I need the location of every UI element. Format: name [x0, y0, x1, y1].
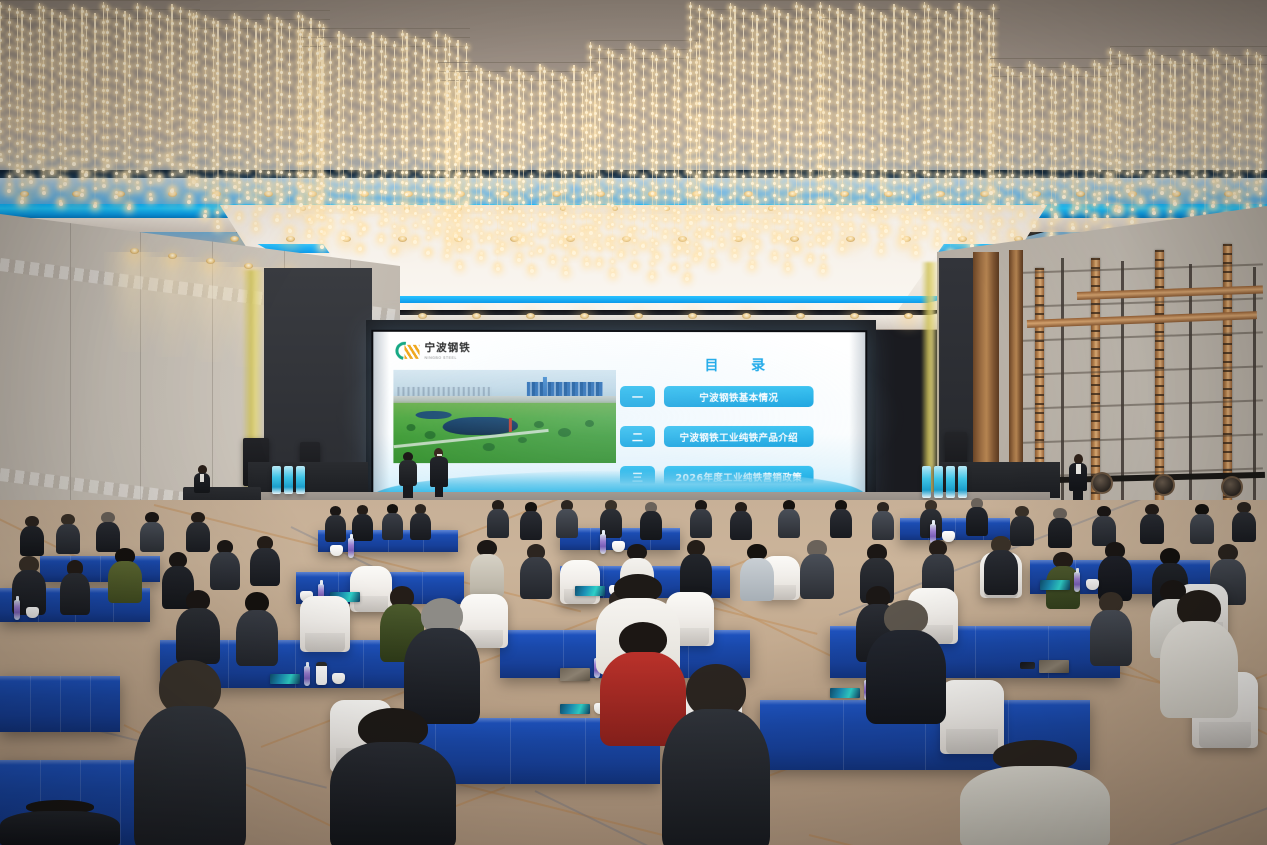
audience-member-beige-sweater	[470, 540, 504, 594]
wall-medallion	[1153, 474, 1175, 496]
audience-member-foreground-light	[960, 740, 1110, 845]
name-card	[1040, 580, 1070, 590]
audience-member	[96, 512, 120, 550]
name-card	[560, 704, 590, 714]
audience-member-foreground	[866, 600, 946, 718]
thermos-tumbler	[316, 662, 327, 685]
audience-member	[236, 592, 278, 662]
toc-label-2: 宁波钢铁工业纯铁产品介绍	[664, 426, 814, 447]
audience-member-white-puffer-fg	[1160, 590, 1238, 712]
water-bottle	[1074, 572, 1080, 592]
toc-label-1: 宁波钢铁基本情况	[664, 386, 814, 407]
audience-member	[800, 540, 834, 596]
audience-member	[520, 502, 542, 538]
teacup	[332, 673, 345, 684]
audience-member	[1090, 592, 1132, 662]
audience-member	[382, 504, 403, 538]
audience-member	[680, 540, 712, 594]
notebook	[560, 668, 590, 681]
logo-name-en: NINGBO STEEL	[425, 355, 471, 359]
audience-member	[1190, 504, 1214, 542]
mobile-phone	[1020, 662, 1035, 669]
audience-member	[140, 512, 164, 550]
audience-member	[640, 502, 662, 538]
slide-aerial-photo	[393, 370, 616, 463]
audience-member-foreground	[404, 598, 480, 718]
audience-member	[740, 544, 774, 598]
toc-row-1: 一 宁波钢铁基本情况	[620, 386, 814, 407]
audience-member-foreground	[662, 664, 770, 845]
audience-member	[1140, 504, 1164, 542]
audience-member	[487, 500, 509, 536]
teacup	[1086, 579, 1099, 590]
audience-member	[1092, 506, 1116, 544]
audience-member	[176, 590, 220, 660]
water-bottle	[304, 666, 310, 686]
audience-member	[1098, 542, 1132, 598]
water-bottle	[348, 538, 354, 558]
wall-medallion	[1091, 472, 1113, 494]
logo-name-cn: 宁波钢铁	[425, 342, 471, 353]
audience-member	[872, 502, 894, 538]
ningbo-steel-logo-icon	[395, 341, 419, 361]
teacup	[26, 607, 39, 618]
audience-member	[56, 514, 80, 552]
stage-crew-photographer	[399, 452, 417, 498]
staff-right	[1069, 454, 1087, 502]
audience-member	[556, 500, 578, 536]
audience-member	[690, 500, 712, 536]
audience-member	[20, 516, 44, 554]
audience-member	[984, 536, 1018, 592]
audience-member	[730, 502, 752, 538]
audience-member	[520, 544, 552, 596]
water-bottle	[14, 600, 20, 620]
table-row-c-far-left	[0, 676, 120, 732]
audience-member	[966, 498, 988, 534]
audience-member	[1048, 508, 1072, 546]
audience-member	[778, 500, 800, 536]
chair	[560, 560, 600, 604]
audience-member	[352, 505, 373, 539]
audience-member	[410, 504, 431, 538]
company-logo: 宁波钢铁 NINGBO STEEL	[395, 341, 470, 361]
audience-member	[60, 560, 90, 612]
name-card	[270, 674, 300, 684]
audience-member	[1232, 502, 1256, 540]
chair	[300, 596, 350, 652]
audience-member-foreground	[134, 660, 246, 845]
name-card	[830, 688, 860, 698]
presenter	[430, 448, 448, 496]
toc-number-2: 二	[620, 426, 655, 447]
notebook	[1039, 660, 1069, 673]
audience-member	[186, 512, 210, 550]
audience-member	[830, 500, 852, 536]
toc-number-1: 一	[620, 386, 655, 407]
table-row-a-far-left	[40, 556, 160, 582]
water-bottle	[600, 534, 606, 554]
teacup	[330, 545, 343, 556]
staff-left	[194, 465, 210, 491]
slide-title: 目 录	[620, 355, 849, 375]
toc-row-2: 二 宁波钢铁工业纯铁产品介绍	[620, 426, 814, 447]
audience-member	[325, 506, 346, 540]
audience-member	[210, 540, 240, 588]
conference-hall-photo: 宁波钢铁 NINGBO STEEL	[0, 0, 1267, 845]
wall-medallion	[1221, 476, 1243, 498]
audience-member	[922, 540, 954, 594]
audience-member	[250, 536, 280, 584]
audience-member-foreground	[330, 708, 456, 845]
audience-member-foreground	[0, 800, 120, 845]
audience-member-olive-jacket	[108, 548, 142, 600]
